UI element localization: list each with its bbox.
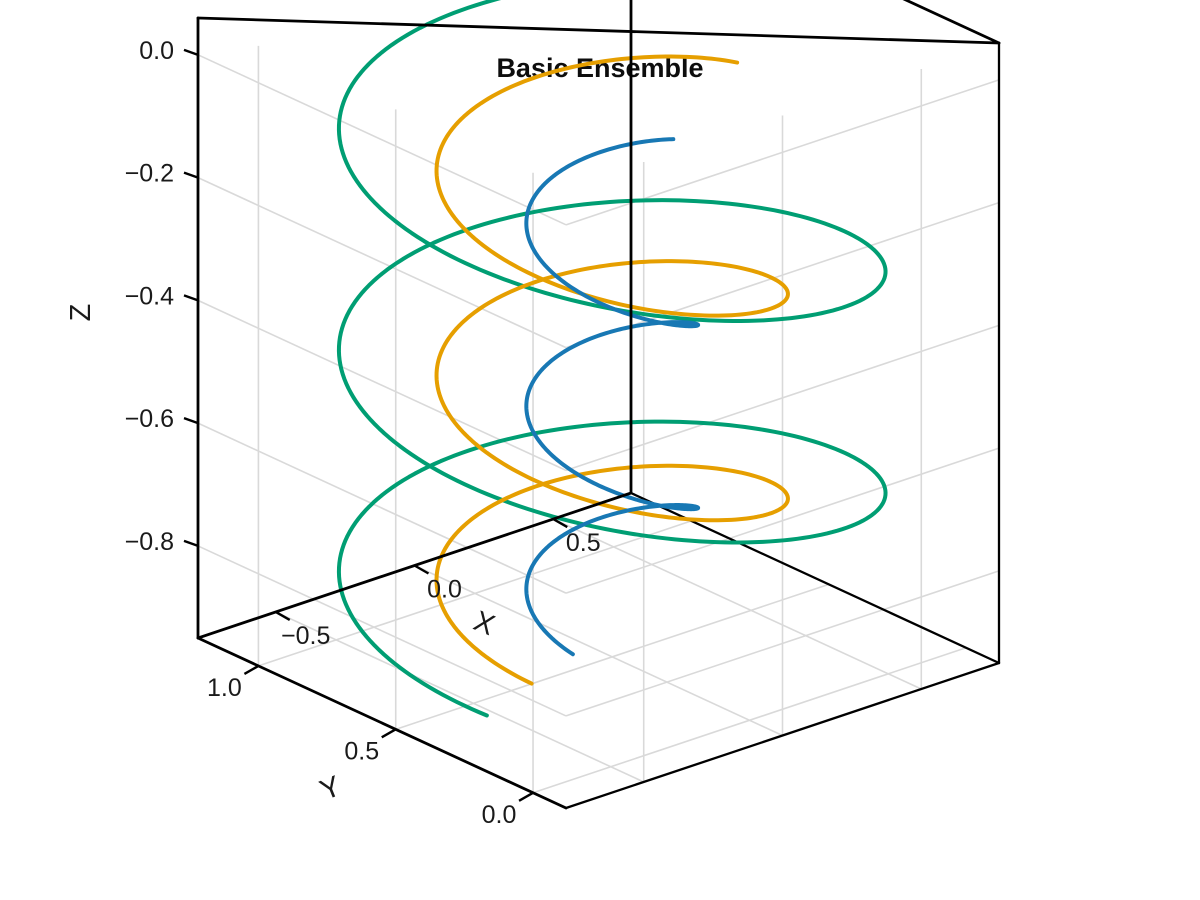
helix-curve-2 [437, 57, 788, 684]
z-tick-label-2: −0.4 [125, 282, 174, 310]
y-axis-label: Y [316, 770, 346, 807]
axis-labels-layer: 0.0−0.2−0.4−0.6−0.8Z0.00.51.0Y−0.50.00.5… [65, 37, 601, 829]
figure-canvas: Basic Ensemble 0.0−0.2−0.4−0.6−0.8Z0.00.… [0, 0, 1200, 900]
x-tick-label-2: 0.5 [566, 529, 601, 557]
helix-curve-1 [339, 0, 886, 715]
grid-lines [198, 46, 999, 793]
axis-box-front-edges [198, 0, 999, 808]
z-tick-label-4: −0.8 [125, 528, 174, 556]
z-tick-label-3: −0.6 [125, 405, 174, 433]
y-tick-label-2: 1.0 [207, 674, 242, 702]
data-curves [339, 0, 886, 715]
x-tick-label-0: −0.5 [281, 622, 330, 650]
y-tick-label-0: 0.0 [482, 801, 517, 829]
plot-area: Basic Ensemble 0.0−0.2−0.4−0.6−0.8Z0.00.… [0, 0, 1200, 900]
z-tick-label-1: −0.2 [125, 160, 174, 188]
z-axis-label: Z [65, 304, 97, 322]
y-tick-label-1: 0.5 [344, 737, 379, 765]
z-tick-label-0: 0.0 [139, 37, 174, 65]
x-tick-label-1: 0.0 [427, 576, 462, 604]
x-axis-label: X [469, 605, 499, 642]
